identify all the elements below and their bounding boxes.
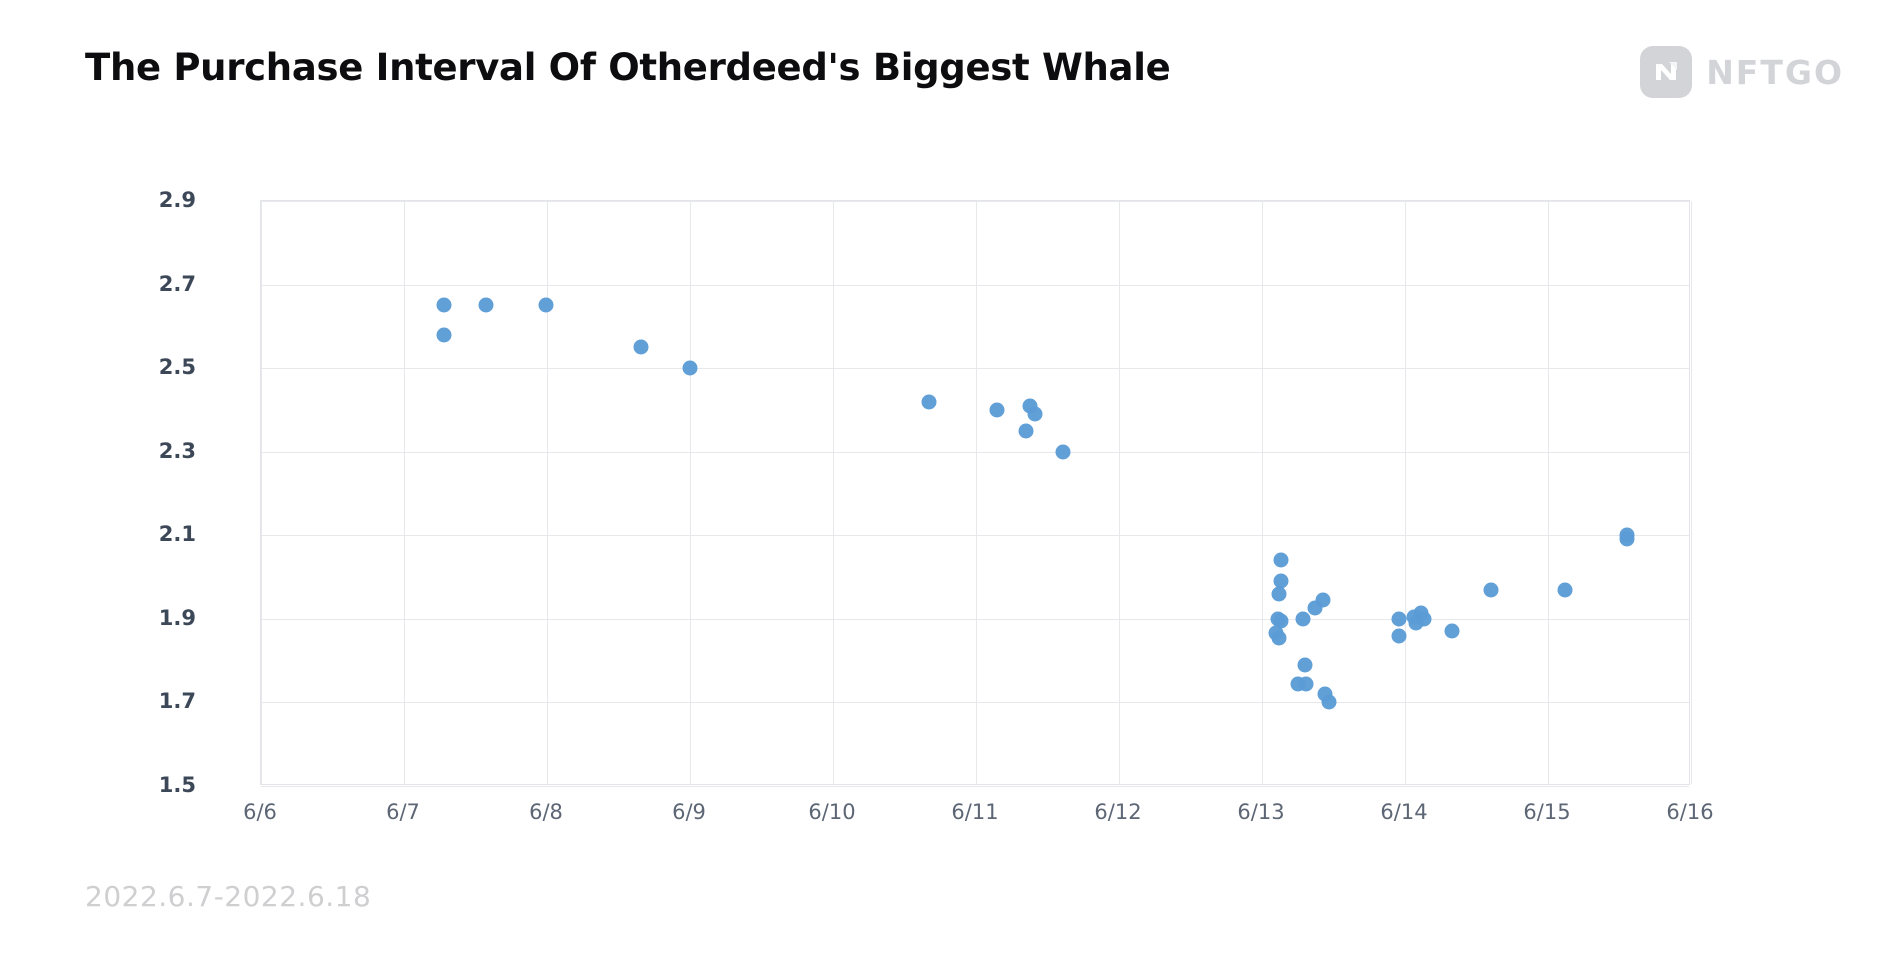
data-point[interactable] bbox=[1392, 611, 1407, 626]
data-point[interactable] bbox=[1299, 676, 1314, 691]
scatter-plot-area bbox=[260, 200, 1690, 785]
y-axis-tick-label: 1.9 bbox=[159, 606, 196, 630]
y-axis-tick-label: 2.9 bbox=[159, 188, 196, 212]
data-point[interactable] bbox=[921, 394, 936, 409]
gridline-vertical bbox=[833, 201, 834, 784]
gridline-horizontal bbox=[261, 201, 1689, 202]
x-axis-tick-label: 6/8 bbox=[529, 800, 563, 824]
data-point[interactable] bbox=[1392, 628, 1407, 643]
gridline-horizontal bbox=[261, 702, 1689, 703]
data-point[interactable] bbox=[1273, 553, 1288, 568]
data-point[interactable] bbox=[478, 298, 493, 313]
gridline-horizontal bbox=[261, 535, 1689, 536]
gridline-horizontal bbox=[261, 285, 1689, 286]
gridline-vertical bbox=[547, 201, 548, 784]
gridline-vertical bbox=[690, 201, 691, 784]
date-range-caption: 2022.6.7-2022.6.18 bbox=[85, 880, 371, 913]
data-point[interactable] bbox=[1558, 582, 1573, 597]
data-point[interactable] bbox=[1483, 582, 1498, 597]
x-axis-tick-label: 6/10 bbox=[808, 800, 855, 824]
page-title: The Purchase Interval Of Otherdeed's Big… bbox=[85, 46, 1170, 89]
data-point[interactable] bbox=[990, 402, 1005, 417]
y-axis-tick-label: 1.5 bbox=[159, 773, 196, 797]
data-point[interactable] bbox=[1322, 695, 1337, 710]
gridline-horizontal bbox=[261, 368, 1689, 369]
data-point[interactable] bbox=[1027, 407, 1042, 422]
gridline-vertical bbox=[404, 201, 405, 784]
gridline-horizontal bbox=[261, 619, 1689, 620]
gridline-vertical bbox=[976, 201, 977, 784]
brand-name: NFTGO bbox=[1706, 53, 1844, 92]
x-axis-tick-label: 6/15 bbox=[1523, 800, 1570, 824]
y-axis-tick-label: 1.7 bbox=[159, 689, 196, 713]
x-axis-tick-label: 6/7 bbox=[386, 800, 420, 824]
x-axis-tick-label: 6/11 bbox=[951, 800, 998, 824]
x-axis-tick-label: 6/16 bbox=[1666, 800, 1713, 824]
gridline-horizontal bbox=[261, 786, 1689, 787]
brand-logo: NFTGO bbox=[1640, 46, 1844, 98]
gridline-horizontal bbox=[261, 452, 1689, 453]
data-point[interactable] bbox=[1619, 532, 1634, 547]
data-point[interactable] bbox=[1445, 624, 1460, 639]
data-point[interactable] bbox=[437, 327, 452, 342]
x-axis-tick-label: 6/9 bbox=[672, 800, 706, 824]
nftgo-logo-icon bbox=[1640, 46, 1692, 98]
x-axis-tick-label: 6/13 bbox=[1237, 800, 1284, 824]
data-point[interactable] bbox=[1316, 593, 1331, 608]
data-point[interactable] bbox=[1272, 586, 1287, 601]
y-axis-tick-label: 2.7 bbox=[159, 272, 196, 296]
data-point[interactable] bbox=[1019, 423, 1034, 438]
x-axis-tick-label: 6/12 bbox=[1094, 800, 1141, 824]
y-axis-tick-label: 2.1 bbox=[159, 522, 196, 546]
gridline-vertical bbox=[261, 201, 262, 784]
data-point[interactable] bbox=[1297, 657, 1312, 672]
gridline-vertical bbox=[1548, 201, 1549, 784]
chart-page: The Purchase Interval Of Otherdeed's Big… bbox=[0, 0, 1904, 959]
x-axis-tick-label: 6/6 bbox=[243, 800, 277, 824]
gridline-vertical bbox=[1405, 201, 1406, 784]
x-axis-tick-label: 6/14 bbox=[1380, 800, 1427, 824]
gridline-vertical bbox=[1262, 201, 1263, 784]
gridline-vertical bbox=[1119, 201, 1120, 784]
data-point[interactable] bbox=[634, 340, 649, 355]
data-point[interactable] bbox=[1272, 630, 1287, 645]
data-point[interactable] bbox=[538, 298, 553, 313]
y-axis-tick-label: 2.5 bbox=[159, 355, 196, 379]
data-point[interactable] bbox=[683, 361, 698, 376]
data-point[interactable] bbox=[437, 298, 452, 313]
gridline-vertical bbox=[1691, 201, 1692, 784]
data-point[interactable] bbox=[1409, 616, 1424, 631]
data-point[interactable] bbox=[1056, 444, 1071, 459]
y-axis-tick-label: 2.3 bbox=[159, 439, 196, 463]
